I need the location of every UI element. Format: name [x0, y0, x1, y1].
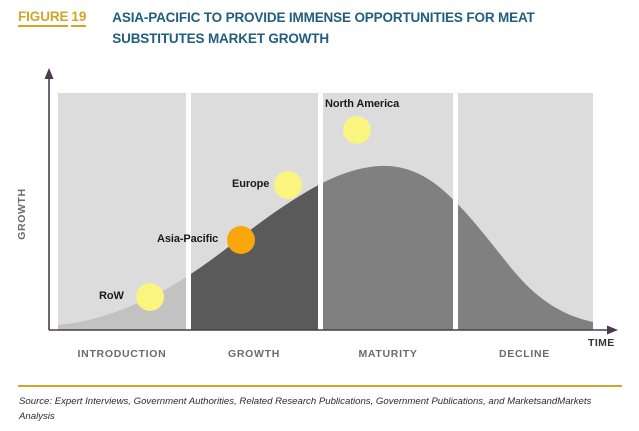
bubble-label-north-america: North America	[325, 98, 399, 110]
stage-label-decline: DECLINE	[458, 348, 591, 360]
bubble-asia-pacific[interactable]	[227, 226, 255, 254]
bubble-row[interactable]	[136, 283, 164, 311]
y-axis-arrow-icon	[45, 68, 54, 79]
stage-label-introduction: INTRODUCTION	[58, 348, 186, 360]
bubble-label-asia-pacific: Asia-Pacific	[157, 233, 218, 245]
bubble-label-europe: Europe	[232, 178, 269, 190]
y-axis-title: GROWTH	[16, 179, 28, 249]
figure-number: 19	[71, 9, 86, 27]
bubble-north-america[interactable]	[343, 116, 371, 144]
figure-word: FIGURE	[18, 9, 68, 27]
figure-tag: FIGURE19	[18, 8, 86, 27]
footer-divider	[18, 385, 622, 387]
x-axis-arrow-icon	[607, 326, 618, 335]
product-life-cycle-chart	[0, 60, 639, 360]
chart-container: GROWTH TIME INTRODUCTION GROWTH MATURITY…	[0, 60, 639, 360]
stage-label-maturity: MATURITY	[323, 348, 453, 360]
bubble-label-row: RoW	[99, 290, 124, 302]
source-note: Source: Expert Interviews, Government Au…	[19, 395, 619, 425]
stage-separator-1	[186, 93, 191, 330]
bubble-europe[interactable]	[274, 171, 302, 199]
stage-separator-2	[318, 93, 323, 330]
figure-header: FIGURE19 ASIA-PACIFIC TO PROVIDE IMMENSE…	[18, 8, 624, 50]
stage-separator-3	[453, 93, 458, 330]
page-title: ASIA-PACIFIC TO PROVIDE IMMENSE OPPORTUN…	[112, 8, 624, 50]
stage-label-growth: GROWTH	[190, 348, 318, 360]
x-axis-title: TIME	[588, 337, 615, 349]
